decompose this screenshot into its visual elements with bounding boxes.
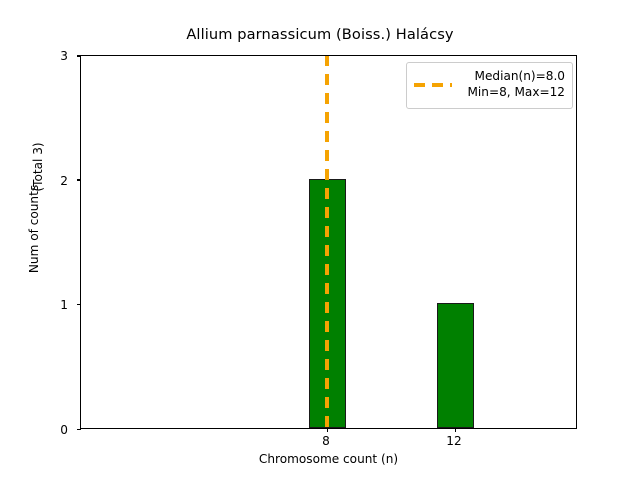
y-tick-mark-1 [77, 304, 81, 305]
legend-label-median: Median(n)=8.0 [459, 69, 565, 85]
x-tick-mark-8 [327, 428, 328, 432]
y-tick-label-2: 2 [40, 174, 68, 188]
x-tick-label-8: 8 [306, 434, 346, 448]
y-tick-label-0: 0 [40, 423, 68, 437]
bar-n12[interactable] [437, 303, 475, 428]
chart-figure: Allium parnassicum (Boiss.) Halácsy Num … [0, 0, 640, 480]
legend: Median(n)=8.0 Min=8, Max=12 [406, 62, 573, 109]
legend-entry-median: Median(n)=8.0 Min=8, Max=12 [414, 69, 565, 101]
y-tick-mark-2 [77, 179, 81, 180]
y-tick-mark-3 [77, 55, 81, 56]
legend-label-minmax: Min=8, Max=12 [459, 85, 565, 101]
y-tick-label-1: 1 [40, 298, 68, 312]
y-tick-label-3: 3 [40, 49, 68, 63]
chart-title: Allium parnassicum (Boiss.) Halácsy [0, 26, 640, 43]
y-tick-mark-0 [77, 429, 81, 430]
median-line [325, 56, 329, 428]
plot-inner [81, 56, 576, 428]
legend-text-block: Median(n)=8.0 Min=8, Max=12 [459, 69, 565, 101]
y-axis-label-line2: (Total 3) [31, 87, 45, 247]
plot-area: Median(n)=8.0 Min=8, Max=12 [80, 55, 577, 429]
x-tick-mark-12 [455, 428, 456, 432]
legend-dashed-line-swatch [414, 78, 452, 92]
x-axis-label: Chromosome count (n) [80, 452, 577, 466]
x-tick-label-12: 12 [434, 434, 474, 448]
